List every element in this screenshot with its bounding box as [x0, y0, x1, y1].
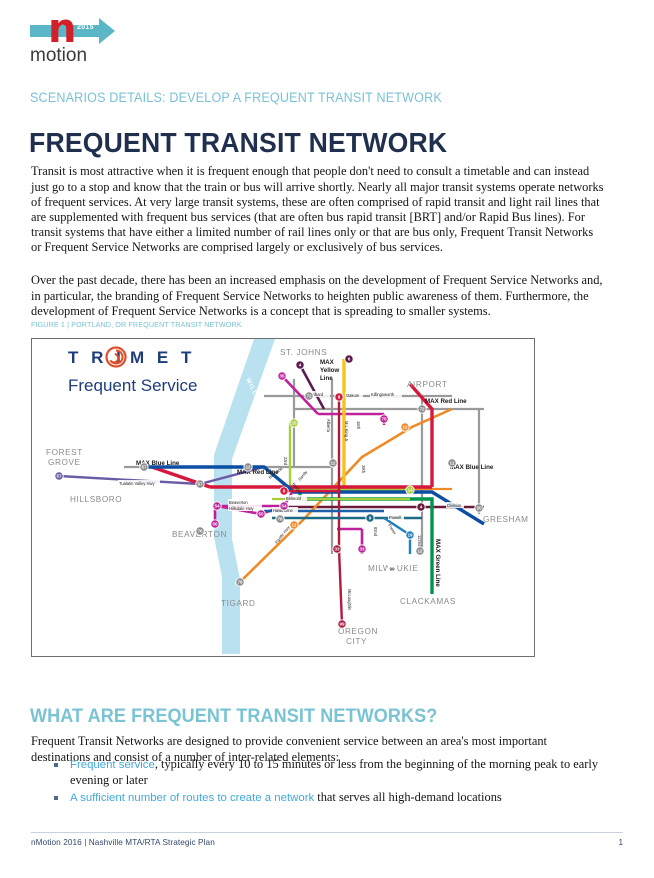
svg-text:9: 9: [369, 516, 372, 521]
route-marker-8: 8: [335, 393, 343, 401]
svg-text:15th: 15th: [356, 421, 361, 430]
section-heading-what-are-ftn: WHAT ARE FREQUENT TRANSIT NETWORKS?: [30, 706, 437, 728]
body-paragraph-1: Transit is most attractive when it is fr…: [31, 164, 604, 255]
route-marker-54: 54: [213, 502, 221, 510]
page-title: FREQUENT TRANSIT NETWORK: [29, 127, 447, 159]
bullet-square-icon: [54, 763, 58, 767]
svg-text:57: 57: [197, 482, 203, 487]
logo-wordmark: motion: [30, 45, 87, 67]
route-marker-12: 12: [290, 521, 298, 529]
route-marker-57: 57: [55, 472, 63, 480]
label-max-yellow-line-3: Line: [320, 375, 333, 382]
portland-transit-map: WILLAMETTE RIVER: [31, 338, 535, 657]
route-marker-99: 99: [338, 620, 346, 628]
svg-text:33: 33: [334, 547, 340, 552]
svg-text:Tualatin Valley Hwy: Tualatin Valley Hwy: [119, 481, 155, 486]
route-marker-72: 72: [418, 405, 426, 413]
svg-text:122nd: 122nd: [417, 535, 422, 547]
svg-text:WILLAMETTE RIVER: WILLAMETTE RIVER: [244, 377, 282, 447]
svg-text:23rd: 23rd: [283, 457, 288, 466]
svg-text:HILLSBORO: HILLSBORO: [70, 495, 122, 504]
route-marker-12: 12: [244, 463, 252, 471]
svg-text:GROVE: GROVE: [48, 458, 81, 467]
route-marker-78: 78: [276, 515, 284, 523]
bullet-highlight: Frequent service: [70, 759, 155, 771]
svg-text:20: 20: [476, 506, 482, 511]
bullet-square-icon: [54, 796, 58, 800]
trimet-frequent-service-label: Frequent Service: [68, 376, 197, 395]
route-marker-57: 57: [196, 480, 204, 488]
svg-text:AIRPORT: AIRPORT: [407, 380, 447, 389]
route-marker-72: 72: [305, 392, 313, 400]
svg-text:Division: Division: [447, 503, 462, 508]
route-lines: [59, 359, 484, 624]
svg-text:19: 19: [407, 533, 413, 538]
svg-text:Hillsdale Hwy: Hillsdale Hwy: [229, 506, 255, 511]
svg-text:55: 55: [258, 512, 264, 517]
route-marker-20: 20: [475, 504, 483, 512]
svg-text:CLACKAMAS: CLACKAMAS: [400, 597, 456, 606]
logo-year-badge: 2015: [77, 24, 94, 31]
route-marker-4: 4: [296, 361, 304, 369]
route-marker-75: 75: [380, 415, 388, 423]
svg-text:12: 12: [402, 425, 408, 430]
svg-text:12: 12: [245, 465, 251, 470]
route-marker-55: 55: [257, 510, 265, 518]
label-max-green-line: MAX Green Line: [434, 539, 441, 587]
route-marker-76: 76: [196, 527, 204, 535]
route-marker-56: 56: [211, 520, 219, 528]
ftn-elements-list: Frequent service, typically every 10 to …: [52, 757, 604, 809]
trimet-brand: T R I M E T Frequent Service: [68, 348, 197, 396]
svg-text:Powell: Powell: [389, 515, 401, 520]
route-marker-12: 12: [448, 459, 456, 467]
svg-text:76: 76: [237, 580, 243, 585]
svg-text:4: 4: [420, 505, 423, 510]
figure-caption: FIGURE 1 | PORTLAND, OR FREQUENT TRANSIT…: [31, 320, 242, 329]
svg-text:35: 35: [279, 374, 285, 379]
svg-text:12: 12: [449, 461, 455, 466]
trimet-wordmark-right: M E T: [130, 348, 195, 367]
svg-text:OREGON: OREGON: [338, 627, 378, 636]
route-marker-19: 19: [406, 531, 414, 539]
svg-text:15: 15: [291, 421, 297, 426]
svg-text:FOREST: FOREST: [46, 448, 83, 457]
route-marker-14: 14: [406, 486, 414, 494]
logo-mark: n 2015: [30, 12, 122, 46]
svg-text:Beaverton: Beaverton: [229, 500, 248, 505]
route-marker-33: 33: [333, 545, 341, 553]
svg-text:8: 8: [338, 395, 341, 400]
route-marker-15: 15: [290, 419, 298, 427]
route-marker-12: 12: [401, 423, 409, 431]
svg-text:TIGARD: TIGARD: [221, 599, 256, 608]
route-marker-12: 12: [416, 547, 424, 555]
svg-text:4: 4: [299, 363, 302, 368]
svg-text:72: 72: [306, 394, 312, 399]
route-marker-57: 57: [140, 463, 148, 471]
label-max-red-line-airport: MAX Red Line: [425, 398, 467, 405]
route-marker-12: 12: [329, 459, 337, 467]
list-item: Frequent service, typically every 10 to …: [52, 757, 604, 788]
svg-text:33: 33: [359, 547, 365, 552]
svg-text:76: 76: [197, 529, 203, 534]
route-marker-35: 35: [278, 372, 286, 380]
bullet-rest: that serves all high-demand locations: [314, 790, 502, 804]
route-marker-99: 99: [388, 565, 396, 573]
svg-text:6: 6: [348, 357, 351, 362]
svg-text:Oakum: Oakum: [346, 393, 360, 398]
svg-text:GRESHAM: GRESHAM: [483, 515, 529, 524]
svg-text:8: 8: [283, 489, 286, 494]
svg-text:Sandy: Sandy: [297, 469, 309, 482]
svg-text:56: 56: [212, 522, 218, 527]
svg-text:75: 75: [381, 417, 387, 422]
route-marker-8: 8: [280, 487, 288, 495]
svg-text:82nd: 82nd: [373, 527, 378, 537]
svg-text:12: 12: [330, 461, 336, 466]
svg-text:54: 54: [281, 504, 287, 509]
logo-letter-n: n: [48, 10, 75, 48]
svg-text:ST. JOHNS: ST. JOHNS: [280, 348, 327, 357]
list-item: A sufficient number of routes to create …: [52, 790, 604, 806]
svg-text:McLoughlin: McLoughlin: [347, 589, 352, 611]
route-marker-4: 4: [417, 503, 425, 511]
svg-text:72: 72: [419, 407, 425, 412]
svg-text:CITY: CITY: [346, 637, 367, 646]
svg-text:Belmont: Belmont: [286, 496, 302, 501]
svg-text:12: 12: [291, 523, 297, 528]
body-paragraph-2: Over the past decade, there has been an …: [31, 273, 604, 319]
svg-text:14: 14: [407, 488, 413, 493]
logo-arrow-head-icon: [99, 18, 115, 44]
label-max-yellow-line-2: Yellow: [320, 367, 339, 374]
route-marker-54: 54: [280, 502, 288, 510]
svg-text:Alberta: Alberta: [326, 419, 331, 433]
route-marker-76: 76: [236, 578, 244, 586]
section-eyebrow: SCENARIOS DETAILS: DEVELOP A FREQUENT TR…: [30, 90, 442, 105]
transit-map-svg: WILLAMETTE RIVER: [32, 339, 532, 654]
footer-document-title: nMotion 2016 | Nashville MTA/RTA Strateg…: [31, 838, 215, 847]
svg-text:78: 78: [277, 517, 283, 522]
svg-text:Killingsworth: Killingsworth: [371, 392, 395, 397]
svg-text:12: 12: [417, 549, 423, 554]
svg-text:M L King Jr: M L King Jr: [344, 421, 349, 442]
footer-divider: [31, 832, 623, 833]
label-max-blue-line-east: MAX Blue Line: [450, 464, 494, 471]
route-marker-9: 9: [366, 514, 374, 522]
nmotion-logo: n 2015 motion: [30, 12, 140, 70]
footer-page-number: 1: [618, 838, 623, 847]
svg-text:54: 54: [214, 504, 220, 509]
route-marker-6: 6: [345, 355, 353, 363]
svg-text:99: 99: [389, 567, 395, 572]
svg-text:57: 57: [56, 474, 62, 479]
route-marker-33: 33: [358, 545, 366, 553]
label-max-yellow-line-1: MAX: [320, 359, 335, 366]
svg-text:57: 57: [141, 465, 147, 470]
svg-text:99: 99: [339, 622, 345, 627]
svg-text:39th: 39th: [361, 465, 366, 474]
bullet-highlight: A sufficient number of routes to create …: [70, 792, 314, 804]
